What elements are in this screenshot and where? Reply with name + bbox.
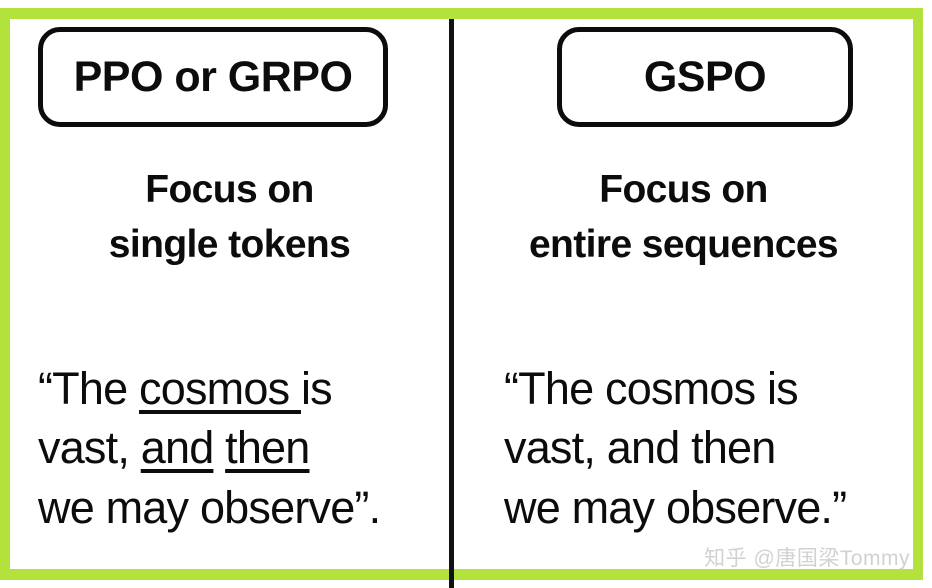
quote-token: “The cosmos is	[504, 363, 798, 414]
panel-gspo: GSPO Focus on entire sequences “The cosm…	[454, 19, 913, 569]
quote-line: “The cosmos is	[504, 359, 914, 418]
quote-line: “The cosmos is	[38, 359, 438, 418]
quote-line: vast, and then	[38, 418, 438, 477]
quote-line: vast, and then	[504, 418, 914, 477]
panel-ppo-grpo: PPO or GRPO Focus on single tokens “The …	[10, 19, 449, 569]
quote-token: vast,	[38, 422, 141, 473]
focus-line: Focus on	[10, 162, 449, 217]
quote-line: we may observe.”	[504, 478, 914, 537]
quote-token-underlined: cosmos	[139, 363, 301, 414]
method-label-gspo: GSPO	[644, 56, 766, 99]
quote-token: “The	[38, 363, 139, 414]
focus-heading-right: Focus on entire sequences	[454, 162, 913, 273]
focus-line: single tokens	[10, 217, 449, 272]
focus-line: Focus on	[454, 162, 913, 217]
quote-token: we may observe.”	[504, 482, 846, 533]
focus-heading-left: Focus on single tokens	[10, 162, 449, 273]
quote-token-underlined: then	[225, 422, 309, 473]
method-label-ppo-grpo: PPO or GRPO	[74, 56, 353, 99]
quote-block-right: “The cosmos isvast, and thenwe may obser…	[504, 359, 914, 537]
quote-token-underlined: and	[141, 422, 214, 473]
quote-token	[213, 422, 225, 473]
method-box-gspo: GSPO	[557, 27, 853, 127]
frame-border-left	[0, 8, 10, 580]
method-box-ppo-grpo: PPO or GRPO	[38, 27, 388, 127]
quote-token: we may observe”.	[38, 482, 380, 533]
frame-border-top	[0, 8, 923, 19]
quote-token: is	[301, 363, 332, 414]
quote-token: vast, and then	[504, 422, 776, 473]
focus-line: entire sequences	[454, 217, 913, 272]
quote-block-left: “The cosmos isvast, and thenwe may obser…	[38, 359, 438, 537]
figure-canvas: PPO or GRPO Focus on single tokens “The …	[0, 0, 932, 588]
watermark: 知乎 @唐国梁Tommy	[704, 542, 910, 572]
frame-border-right	[913, 8, 923, 580]
quote-line: we may observe”.	[38, 478, 438, 537]
